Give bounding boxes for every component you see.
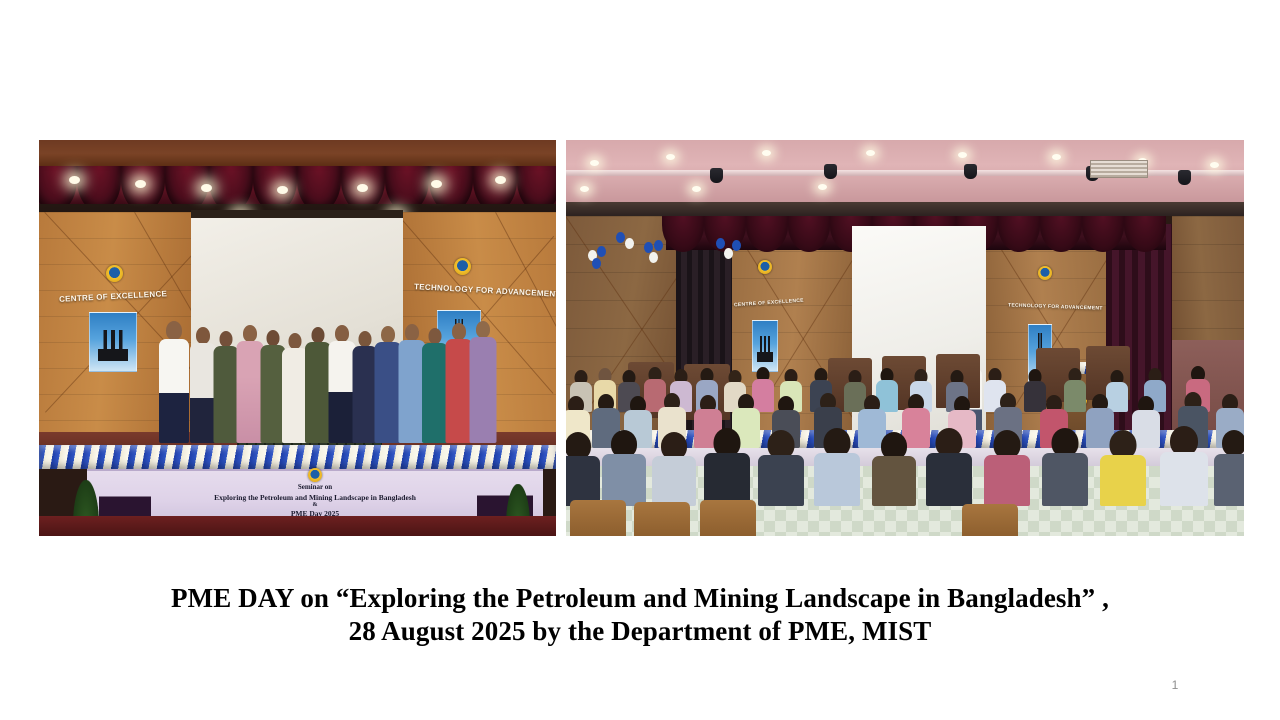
caption-line-1: PME DAY on “Exploring the Petroleum and … [0,582,1280,615]
mist-crest-emblem-left [758,260,772,274]
ceiling-spotlight [431,180,442,188]
ceiling-downlight [580,186,589,192]
person [469,321,496,443]
ceiling-downlight [666,154,675,160]
wooden-chair [962,504,1018,536]
wooden-chair [634,502,690,536]
caption-line-2: 28 August 2025 by the Department of PME,… [0,615,1280,648]
ceiling-spotlight [277,186,288,194]
wooden-chair [570,500,626,536]
person [159,321,189,443]
banner-line-3: & [87,502,543,508]
stage-front-carpet [39,516,556,536]
banner-crest-emblem [308,468,322,482]
slide-caption: PME DAY on “Exploring the Petroleum and … [0,582,1280,648]
ceiling-downlight [958,152,967,158]
mist-crest-emblem-left [106,265,123,282]
photo-auditorium-audience[interactable]: CENTRE OF EXCELLENCE TECHNOLOGY FOR ADVA… [566,140,1244,536]
ceiling-lip-shadow [566,202,1244,216]
page-number: 1 [1160,678,1190,692]
banner-line-1: Seminar on [87,483,543,491]
person [236,325,263,443]
ceiling-spotlight-fixture [1178,170,1191,185]
ceiling-downlight [590,160,599,166]
air-conditioner-vent [1090,160,1148,178]
ceiling-spotlight [357,184,368,192]
ceiling-downlight [762,150,771,156]
ceiling-spotlight-fixture [824,164,837,179]
ceiling-spotlight-fixture [964,164,977,179]
group-on-stage [157,303,457,443]
person [445,323,472,443]
ceiling-spotlight [135,180,146,188]
ceiling-downlight [866,150,875,156]
balloon-cluster [716,238,750,272]
person [374,326,401,443]
banner-line-2: Exploring the Petroleum and Mining Lands… [87,493,543,502]
ceiling-downlight [818,184,827,190]
photo-cake-cutting-group[interactable]: CENTRE OF EXCELLENCE TECHNOLOGY FOR ADVA… [39,140,556,536]
ceiling-spotlight [69,176,80,184]
ceiling-downlight [1210,162,1219,168]
presentation-slide: CENTRE OF EXCELLENCE TECHNOLOGY FOR ADVA… [0,0,1280,720]
mist-crest-emblem-right [1038,266,1052,280]
person [213,331,238,443]
audience-row-near [566,426,1244,506]
balloon-cluster [644,240,678,274]
poster-left-rig [89,312,137,372]
flower-garland [39,445,556,469]
ceiling-spotlight-fixture [710,168,723,183]
ceiling-spotlight [495,176,506,184]
mist-crest-emblem-right [454,258,471,275]
person [398,324,425,443]
ceiling-downlight [1052,154,1061,160]
ceiling-spotlight [201,184,212,192]
ceiling-downlight [692,186,701,192]
person [328,325,355,443]
wooden-chair [700,500,756,536]
